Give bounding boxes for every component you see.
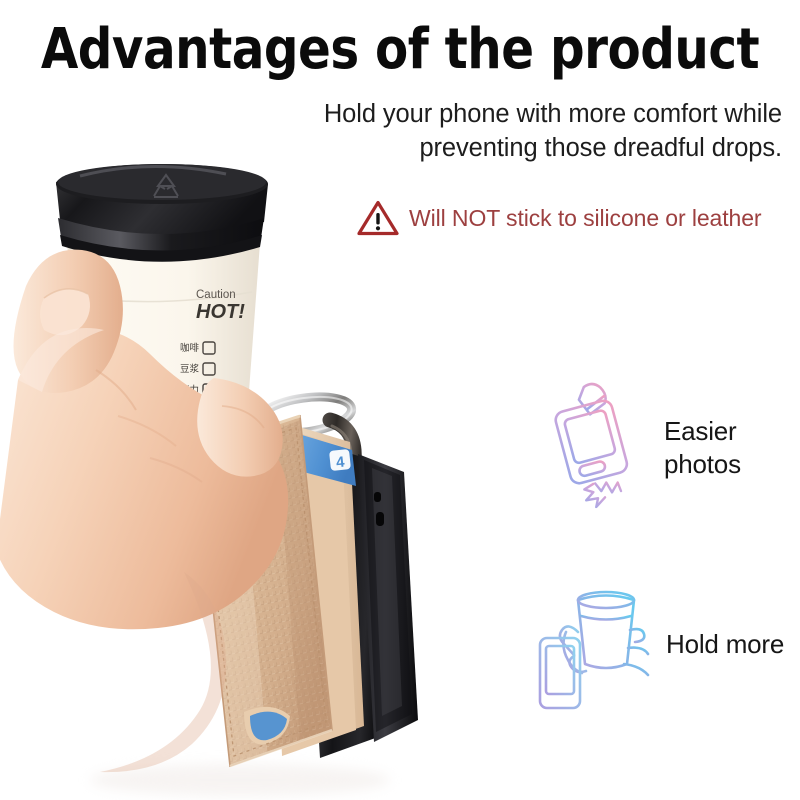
hand-holding-cup-phone-icon — [538, 572, 656, 717]
feature-label-line-1: Hold more — [666, 628, 784, 661]
page-title: Advantages of the product — [16, 22, 784, 78]
checklist-item-0: 咖啡 — [180, 342, 200, 354]
cup-lid — [56, 164, 268, 262]
feature-easier-photos-label: Easier photos — [664, 415, 741, 481]
cup-hot-label: HOT! — [196, 301, 245, 323]
camera-phone-icon — [542, 378, 650, 518]
feature-hold-more-label: Hold more — [666, 628, 784, 661]
product-photo-illustration: Caution HOT! 咖啡 豆浆 热巧克力 奶茶 其他1 其他2 — [0, 120, 530, 800]
cup-caution-label: Caution — [196, 289, 236, 301]
product-advantages-page: Advantages of the product Hold your phon… — [0, 0, 800, 800]
feature-label-line-1: Easier — [664, 415, 741, 448]
case-button-cutout — [374, 492, 381, 502]
checklist-item-1: 豆浆 — [180, 363, 200, 375]
product-photo: Caution HOT! 咖啡 豆浆 热巧克力 奶茶 其他1 其他2 — [0, 120, 530, 800]
case-button-cutout — [376, 512, 384, 526]
feature-hold-more: Hold more — [538, 572, 784, 717]
feature-label-line-2: photos — [664, 448, 741, 481]
feature-easier-photos: Easier photos — [542, 378, 741, 518]
